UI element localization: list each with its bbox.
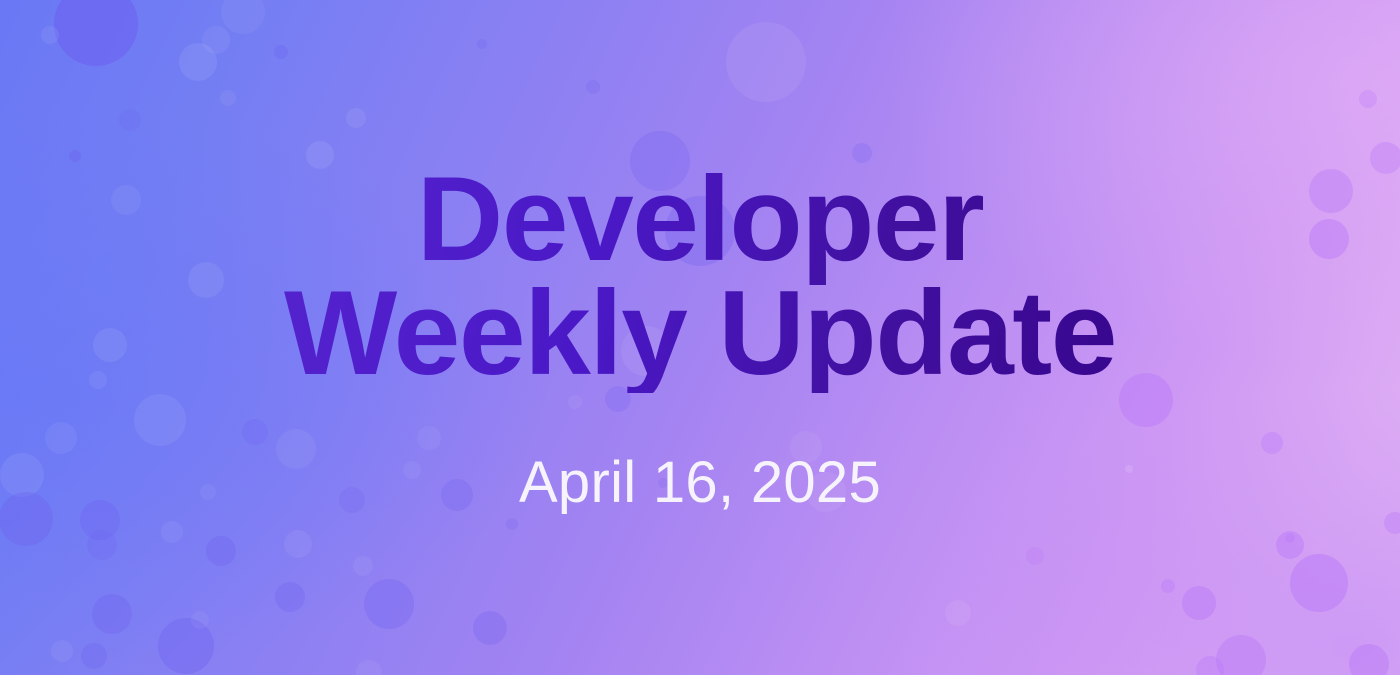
page-title: Developer Weekly Update — [284, 159, 1116, 393]
page-title-line-2: Weekly Update — [284, 273, 1116, 393]
page-title-line-1: Developer — [284, 159, 1116, 279]
banner-content: Developer Weekly Update April 16, 2025 — [0, 0, 1400, 675]
developer-weekly-update-banner: Developer Weekly Update April 16, 2025 — [0, 0, 1400, 675]
banner-date: April 16, 2025 — [519, 449, 881, 516]
